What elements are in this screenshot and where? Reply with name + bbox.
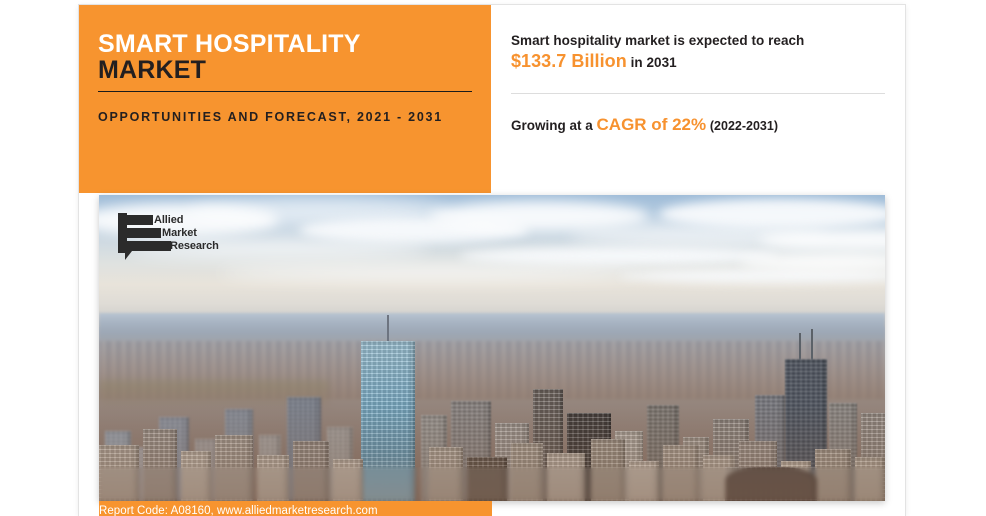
cagr-prefix: Growing at a [511,118,593,133]
building [257,455,289,501]
building [591,439,625,501]
logo-tail [125,251,132,260]
title-line-secondary: MARKET [98,57,478,83]
report-code-and-url: Report Code: A08160, www.alliedmarketres… [99,501,378,516]
title-panel: SMART HOSPITALITY MARKET OPPORTUNITIES A… [79,5,491,193]
report-title: SMART HOSPITALITY MARKET [98,31,478,83]
stats-panel: Smart hospitality market is expected to … [511,31,885,73]
building [629,461,659,501]
market-size-value: $133.7 Billion [511,51,627,71]
market-size-statement: Smart hospitality market is expected to … [511,31,885,73]
building [143,429,177,501]
cloud-shape [219,265,639,281]
logo-text-market: Market [162,228,197,239]
title-line-primary: SMART HOSPITALITY [98,31,478,57]
building [511,443,543,501]
report-subtitle: OPPORTUNITIES AND FORECAST, 2021 - 2031 [98,107,473,127]
cloud-shape [459,247,779,265]
building [215,435,253,501]
market-size-suffix: in 2031 [631,55,677,70]
report-infographic-card: SMART HOSPITALITY MARKET OPPORTUNITIES A… [79,5,905,516]
logo-bar [127,228,161,238]
building [293,441,329,501]
stats-divider [511,93,885,94]
screenshot-root: SMART HOSPITALITY MARKET OPPORTUNITIES A… [0,0,986,516]
building [815,449,851,501]
building [429,447,463,501]
building [99,445,139,501]
market-size-prefix: Smart hospitality market is expected to … [511,33,804,48]
logo-bubble-icon: Allied Market Research [118,213,200,253]
footer-bar: Report Code: A08160, www.alliedmarketres… [99,501,492,516]
cagr-years: (2022-2031) [710,119,778,133]
pitched-roof-building [725,467,817,501]
glass-tower [361,341,415,501]
city-skyline-image: Allied Market Research [99,195,885,501]
cagr-value: CAGR of 22% [597,115,707,134]
cover-photo: Allied Market Research [99,195,885,501]
cagr-statement: Growing at a CAGR of 22% (2022-2031) [511,115,885,136]
building [333,459,363,501]
building [663,445,699,501]
title-divider [98,91,472,92]
logo-text-allied: Allied [154,215,183,226]
building [855,457,885,501]
allied-market-research-logo: Allied Market Research [118,213,204,263]
cloud-shape [659,199,885,229]
building [547,453,585,501]
building [181,451,211,501]
foreground-city-layer [99,311,885,501]
logo-text-research: Research [170,241,219,252]
logo-frame [118,213,127,253]
building [467,457,507,501]
logo-bar [127,215,153,225]
logo-bar [127,241,171,251]
